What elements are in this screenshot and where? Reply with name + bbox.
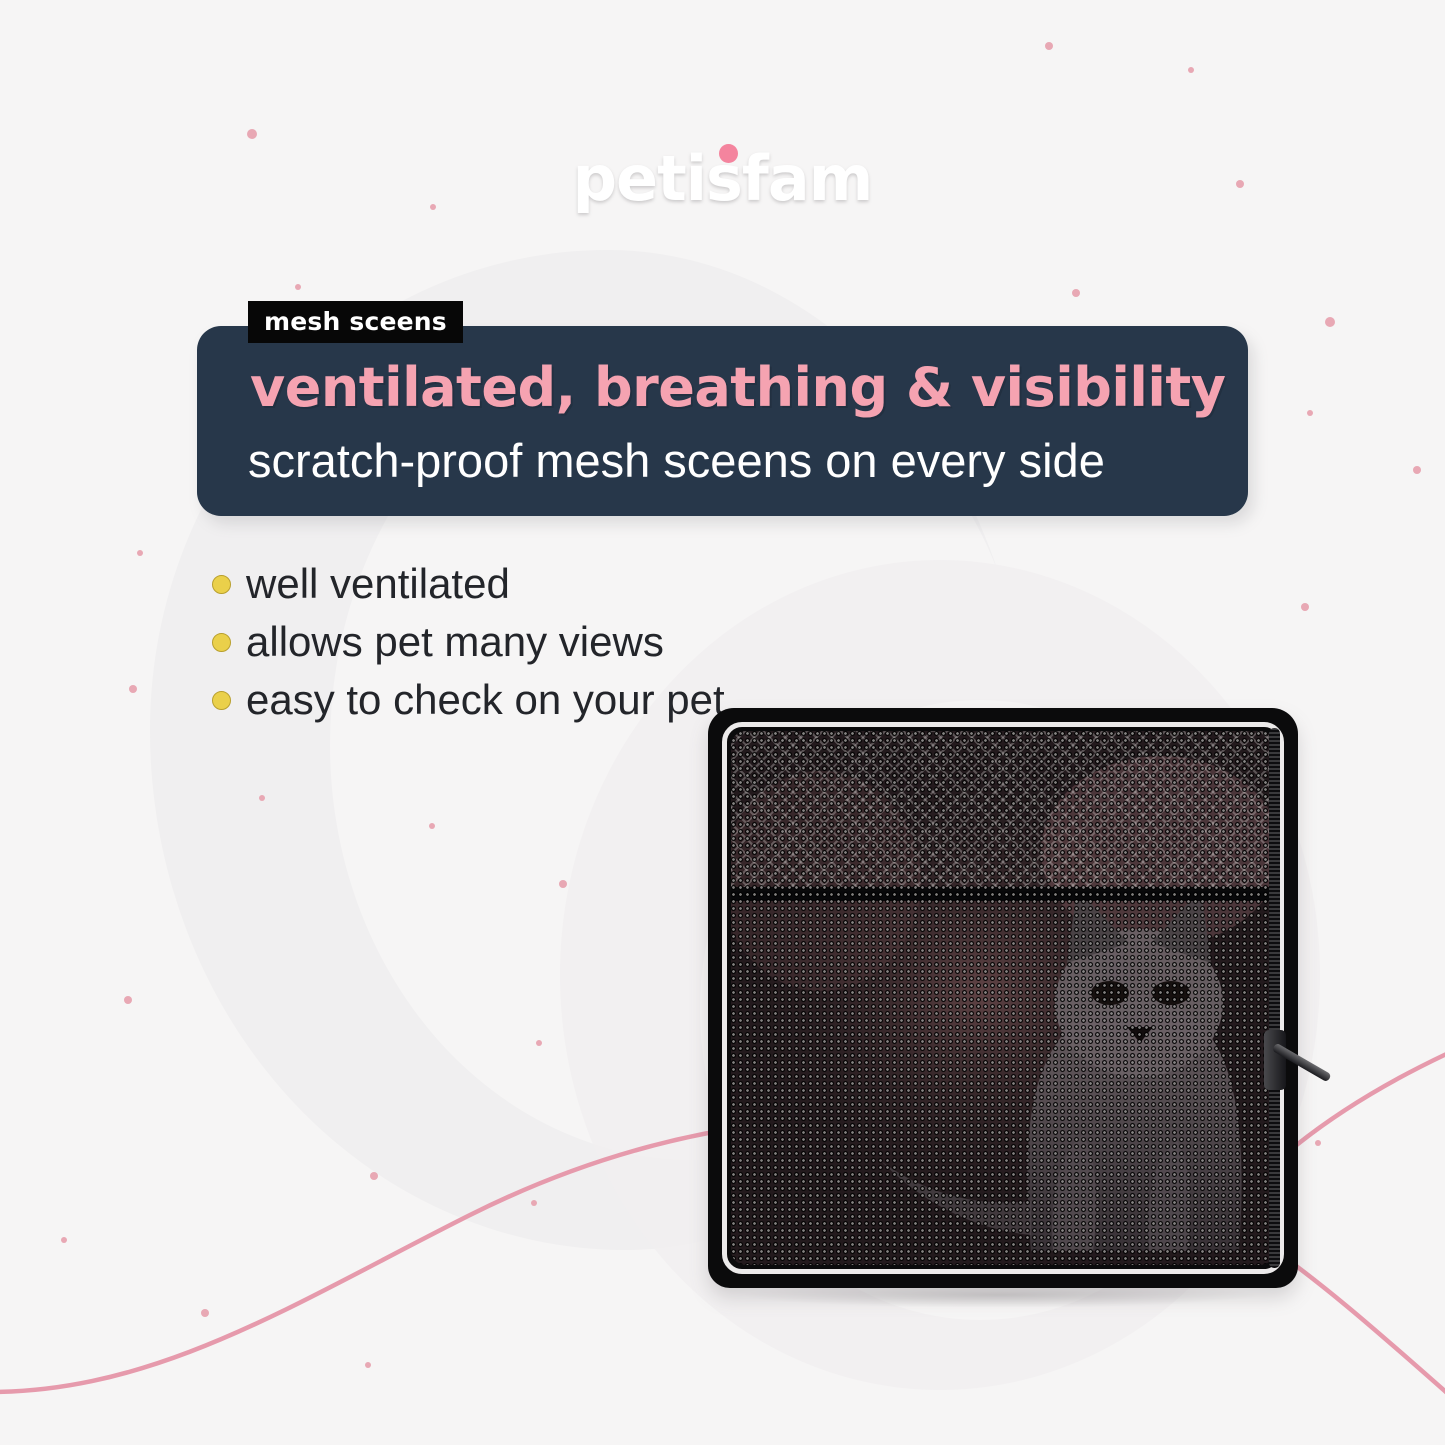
decorative-dot [365, 1362, 371, 1368]
decorative-dot [531, 1200, 537, 1206]
pet-carrier [708, 708, 1298, 1288]
benefit-label: allows pet many views [246, 621, 664, 663]
feature-headline: ventilated, breathing & visibility [250, 361, 1225, 415]
decorative-dot [137, 550, 143, 556]
mesh-screen-texture [731, 731, 1275, 1265]
feature-panel [197, 326, 1248, 516]
brand-logo-text: petisfam [573, 142, 873, 215]
decorative-dot [1301, 603, 1309, 611]
product-photo [700, 700, 1310, 1300]
decorative-dot [259, 795, 265, 801]
benefit-list-item: allows pet many views [212, 613, 725, 671]
zipper-pull-tab[interactable] [1272, 1043, 1332, 1083]
decorative-dot [559, 880, 567, 888]
decorative-dot [1072, 289, 1080, 297]
decorative-dot [1188, 67, 1194, 73]
decorative-dot [1325, 317, 1335, 327]
carrier-zipper-track [1269, 728, 1280, 1268]
decorative-dot [1413, 466, 1421, 474]
benefit-bullet-icon [212, 633, 231, 652]
benefit-list-item: well ventilated [212, 555, 725, 613]
decorative-dot [201, 1309, 209, 1317]
decorative-dot [124, 996, 132, 1004]
carrier-mesh-panel [731, 731, 1275, 1265]
decorative-dot [129, 685, 137, 693]
decorative-dot [1307, 410, 1313, 416]
benefit-list-item: easy to check on your pet [212, 671, 725, 729]
decorative-dot [536, 1040, 542, 1046]
decorative-dot [1315, 1140, 1321, 1146]
carrier-zipper-slider[interactable] [1264, 1030, 1286, 1090]
decorative-dot [1045, 42, 1053, 50]
brand-logo: petisfam [0, 142, 1445, 215]
benefit-bullet-icon [212, 691, 231, 710]
decorative-dot [429, 823, 435, 829]
benefit-bullet-icon [212, 575, 231, 594]
decorative-dot [370, 1172, 378, 1180]
brand-logo-dot-icon [719, 144, 738, 163]
decorative-dot [61, 1237, 67, 1243]
benefit-label: well ventilated [246, 563, 510, 605]
benefit-label: easy to check on your pet [246, 679, 725, 721]
benefit-list: well ventilatedallows pet many viewseasy… [212, 555, 725, 729]
decorative-dot [295, 284, 301, 290]
feature-subheadline: scratch-proof mesh sceens on every side [248, 437, 1105, 484]
feature-badge: mesh sceens [248, 301, 463, 343]
decorative-dot [247, 129, 257, 139]
feature-badge-label: mesh sceens [264, 307, 447, 336]
product-infographic: petisfam mesh sceens ventilated, breathi… [0, 0, 1445, 1445]
